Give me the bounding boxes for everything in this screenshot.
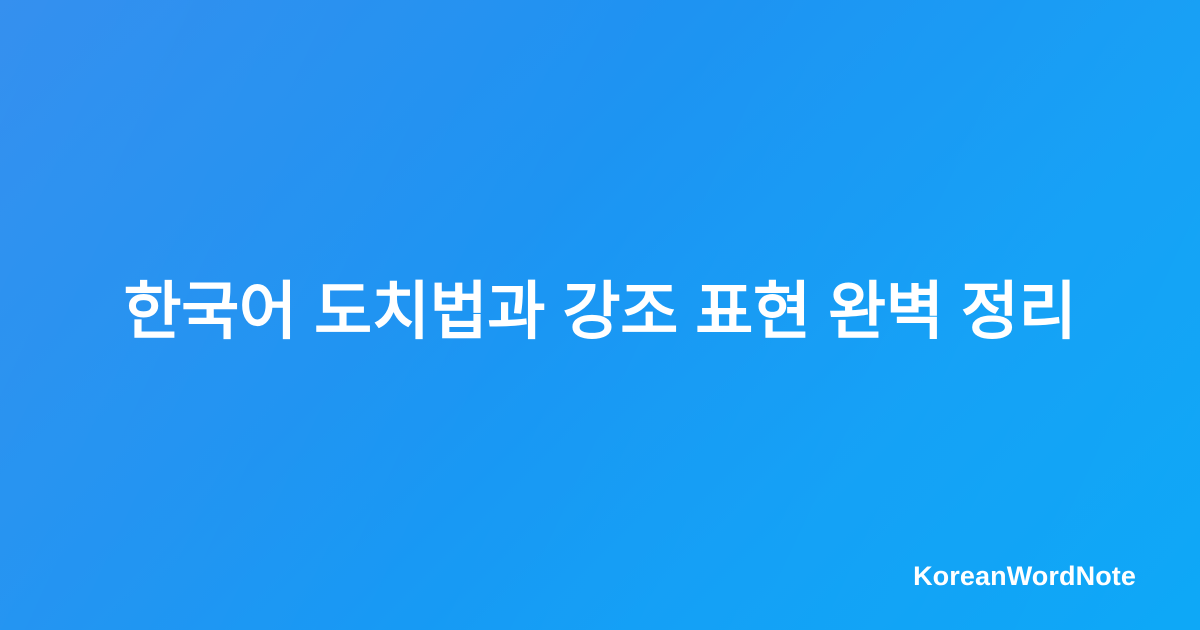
- brand-watermark: KoreanWordNote: [913, 563, 1136, 590]
- title-block: 한국어 도치법과 강조 표현 완벽 정리: [0, 275, 1200, 349]
- page-title: 한국어 도치법과 강조 표현 완벽 정리: [124, 275, 1077, 349]
- og-banner-card: 한국어 도치법과 강조 표현 완벽 정리 KoreanWordNote: [0, 0, 1200, 630]
